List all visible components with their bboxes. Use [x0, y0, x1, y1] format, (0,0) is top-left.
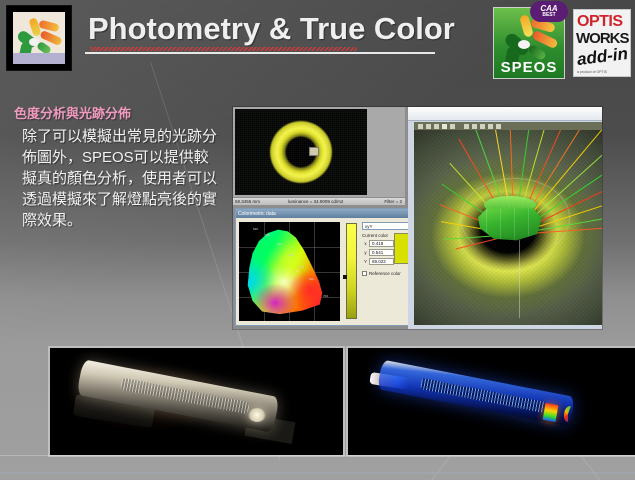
raytrace-title-bar[interactable] [408, 107, 602, 121]
luminance-map-window: 59.3455 mm luminance = 34.9009 cd/m2 Fil… [233, 107, 405, 197]
toolbar-icon [442, 124, 447, 129]
luminance-map-canvas [235, 109, 367, 195]
toolbar-icon [472, 124, 477, 129]
page-title: Photometry & True Color [88, 11, 455, 47]
raytrace-toolbar[interactable] [414, 122, 602, 130]
reference-color-label: Reference color [369, 271, 401, 276]
cie-tick-label: 520 [253, 227, 258, 231]
color-field-key: Y [362, 259, 369, 264]
color-field-value[interactable]: 0.419 [369, 240, 394, 247]
render-noise-overlay [235, 109, 367, 195]
background-footer-band [0, 472, 635, 474]
luminance-status-bar: 59.3455 mm luminance = 34.9009 cd/m2 Fil… [233, 197, 405, 206]
cie-gamut-horseshoe [243, 227, 323, 315]
raytrace-viewport[interactable] [414, 130, 602, 325]
spellcheck-underline [90, 47, 357, 51]
background-rule [0, 455, 635, 456]
cie-tick-label: 580 [289, 253, 294, 257]
caa-v5-badge: CAA BEST [530, 1, 568, 22]
optis-logo-line1: OPTIS [577, 13, 623, 31]
application-screenshot: 59.3455 mm luminance = 34.9009 cd/m2 Fil… [233, 107, 602, 329]
cie-tick-label: 600 [299, 265, 304, 269]
colorbar-marker[interactable] [343, 275, 347, 279]
toolbar-icon [464, 124, 469, 129]
speos-app-icon [13, 12, 65, 64]
cie-tick-label: 700 [323, 294, 328, 298]
reference-color-checkbox[interactable] [362, 271, 367, 276]
current-color-marker [296, 269, 299, 272]
dialog-title-bar[interactable]: Colorimetric data [236, 209, 422, 218]
dialog-title-text: Colorimetric data [238, 211, 276, 217]
toolbar-icon [450, 124, 455, 129]
optis-logo-line4: a product of OPTIS [577, 70, 607, 74]
slide-canvas: Photometry & True Color SPEOS CAA BEST O… [0, 0, 635, 480]
color-field-key: y [362, 250, 369, 255]
cie-tick-label: 560 [277, 242, 282, 246]
status-position: 59.3455 mm [235, 199, 260, 204]
cie-tick-label: 540 [265, 233, 270, 237]
toolbar-icon [496, 124, 501, 129]
color-field-value[interactable]: 69.022 [369, 258, 394, 265]
true-color-render [50, 348, 343, 455]
section-body-text: 除了可以模擬出常見的光跡分佈圖外，SPEOS可以提供較擬真的顏色分析，使用者可以… [22, 126, 222, 231]
toolbar-icon [488, 124, 493, 129]
optical-axis-line [519, 240, 520, 318]
led-source-tip [248, 408, 266, 422]
status-filter: Filter = 2 [384, 199, 402, 204]
toolbar-icon [434, 124, 439, 129]
toolbar-icon [418, 124, 423, 129]
status-luminance: luminance = 34.9009 cd/m2 [288, 199, 343, 204]
title-underline-rule [85, 52, 435, 54]
colorimetric-data-dialog[interactable]: Colorimetric data 520 540 560 580 600 62… [235, 208, 423, 326]
section-subheading: 色度分析與光跡分佈 [14, 103, 131, 122]
false-color-luminance-render [348, 348, 635, 455]
optis-works-logo: OPTIS WORKS add-in a product of OPTIS [573, 9, 631, 77]
speos-logo-text: SPEOS [494, 59, 564, 76]
toolbar-icon [426, 124, 431, 129]
app-logo-frame [6, 5, 72, 71]
raytrace-window [408, 107, 602, 329]
toolbar-icon [480, 124, 485, 129]
color-field-key: x [362, 241, 369, 246]
color-field-value[interactable]: 0.541 [369, 249, 394, 256]
luminance-colorbar [346, 223, 357, 319]
cie-tick-label: 620 [309, 277, 314, 281]
color-space-value: xyY [365, 224, 373, 229]
cie-chromaticity-chart[interactable]: 520 540 560 580 600 620 700 [239, 222, 340, 321]
caa-badge-line3: BEST [542, 13, 555, 18]
optis-logo-line3: add-in [576, 44, 629, 70]
